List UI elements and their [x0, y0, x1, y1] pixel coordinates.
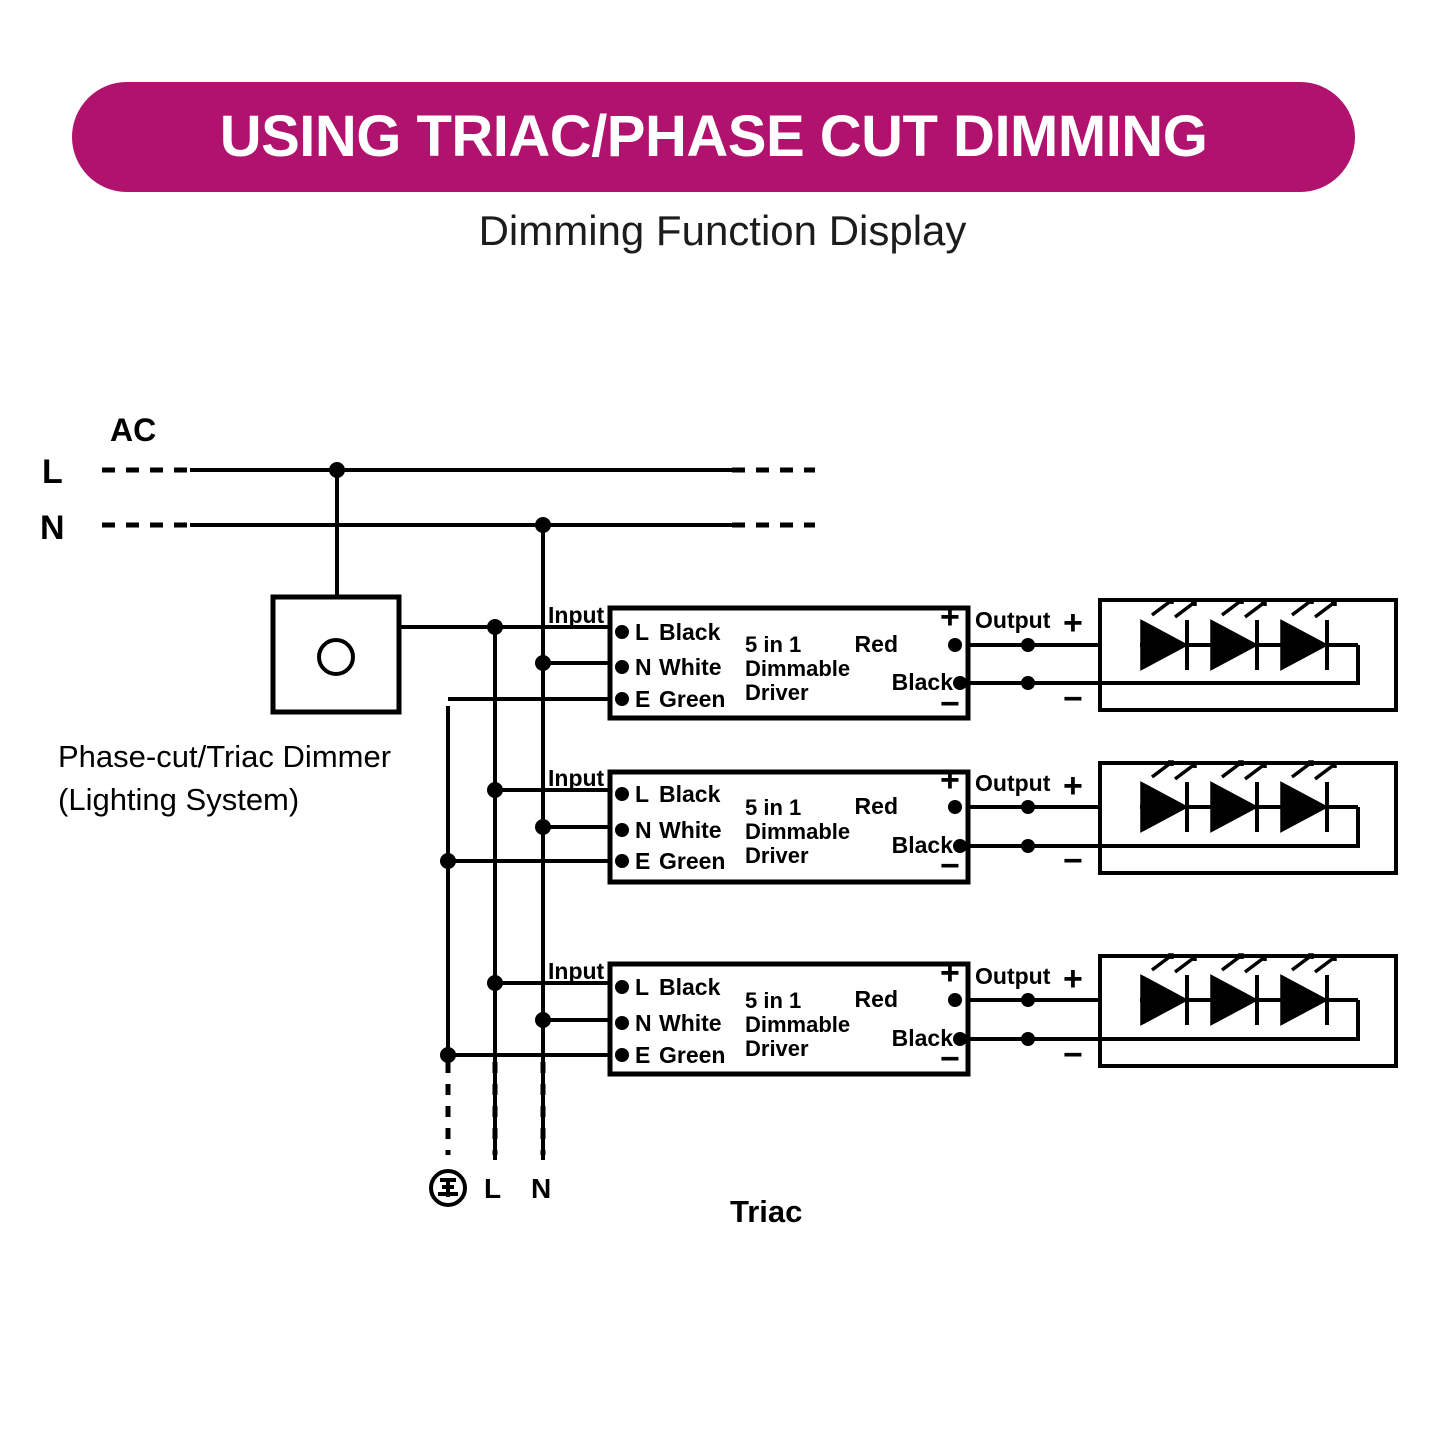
driver-3-minus-sign: − — [940, 1040, 960, 1078]
driver-3-wire-l: Black — [659, 974, 721, 1000]
driver-3-out-red-label: Red — [855, 986, 898, 1012]
driver-3-out-red-dot — [948, 993, 962, 1007]
supply-neutral-label: N — [40, 509, 65, 547]
output-label-2: Output — [975, 770, 1051, 796]
driver-2-title-line3: Driver — [745, 843, 809, 868]
driver-2-minus-sign: − — [940, 847, 960, 885]
driver-1-terminal-l-dot — [615, 625, 629, 639]
junction-dot-driver-1-n — [535, 655, 551, 671]
driver-1-title-line2: Dimmable — [745, 656, 850, 681]
dimmer-caption-line2: (Lighting System) — [58, 782, 299, 817]
driver-1-terminal-e: E — [635, 686, 650, 712]
driver-1-title-line1: 5 in 1 — [745, 632, 801, 657]
junction-dot-out3-plus — [1021, 993, 1035, 1007]
junction-dot-driver-2-e — [440, 853, 456, 869]
driver-3-wire-e: Green — [659, 1042, 725, 1068]
driver-3-terminal-l-dot — [615, 980, 629, 994]
driver-2-terminal-n-dot — [615, 823, 629, 837]
driver-1-wire-n: White — [659, 654, 722, 680]
driver-2-wire-l: Black — [659, 781, 721, 807]
junction-dot-l-rail — [329, 462, 345, 478]
driver-1-out-red-dot — [948, 638, 962, 652]
dimmer-box[interactable] — [273, 597, 399, 712]
driver-2-wire-n: White — [659, 817, 722, 843]
driver-2-terminal-n: N — [635, 817, 652, 843]
junction-dot-driver-2-l — [487, 782, 503, 798]
driver-1-terminal-n: N — [635, 654, 652, 680]
output-2-plus: + — [1063, 767, 1083, 805]
output-1-minus: − — [1063, 680, 1083, 718]
wiring-diagram: AC L N Phase-cut/Triac Dimmer (Lighting … — [0, 0, 1445, 1445]
footer-label: Triac — [730, 1194, 802, 1229]
junction-dot-driver-3-n — [535, 1012, 551, 1028]
ac-label: AC — [110, 412, 156, 448]
dimmer-caption-line1: Phase-cut/Triac Dimmer — [58, 739, 391, 774]
driver-3-plus-sign: + — [940, 954, 960, 992]
junction-dot-n-rail — [535, 517, 551, 533]
junction-dot-driver-3-e — [440, 1047, 456, 1063]
driver-2-terminal-l-dot — [615, 787, 629, 801]
output-label-3: Output — [975, 963, 1051, 989]
driver-3-title-line3: Driver — [745, 1036, 809, 1061]
driver-2-title-line2: Dimmable — [745, 819, 850, 844]
diagram-page: USING TRIAC/PHASE CUT DIMMING Dimming Fu… — [0, 0, 1445, 1445]
driver-3-terminal-e-dot — [615, 1048, 629, 1062]
output-3-plus: + — [1063, 960, 1083, 998]
supply-line-label: L — [42, 453, 63, 491]
driver-1-title-line3: Driver — [745, 680, 809, 705]
input-label-3: Input — [548, 958, 605, 984]
driver-2-out-red-dot — [948, 800, 962, 814]
driver-3-title-line1: 5 in 1 — [745, 988, 801, 1013]
driver-1-wire-l: Black — [659, 619, 721, 645]
junction-dot-out1-plus — [1021, 638, 1035, 652]
driver-3-terminal-l: L — [635, 974, 649, 1000]
driver-3-terminal-e: E — [635, 1042, 650, 1068]
bus-line-label: L — [484, 1173, 501, 1204]
driver-2-terminal-e-dot — [615, 854, 629, 868]
driver-2-plus-sign: + — [940, 761, 960, 799]
driver-2-terminal-e: E — [635, 848, 650, 874]
driver-1-wire-e: Green — [659, 686, 725, 712]
driver-1-terminal-n-dot — [615, 660, 629, 674]
driver-1-terminal-e-dot — [615, 692, 629, 706]
driver-1-out-red-label: Red — [855, 631, 898, 657]
junction-dot-out3-minus — [1021, 1032, 1035, 1046]
earth-ground-icon — [431, 1171, 465, 1205]
driver-1-terminal-l: L — [635, 619, 649, 645]
driver-3-terminal-n-dot — [615, 1016, 629, 1030]
junction-dot-out2-plus — [1021, 800, 1035, 814]
output-3-minus: − — [1063, 1036, 1083, 1074]
driver-2-out-red-label: Red — [855, 793, 898, 819]
bus-neutral-label: N — [531, 1173, 551, 1204]
driver-2-title-line1: 5 in 1 — [745, 795, 801, 820]
driver-1-plus-sign: + — [940, 598, 960, 636]
driver-3-wire-n: White — [659, 1010, 722, 1036]
junction-dot-out1-minus — [1021, 676, 1035, 690]
output-1-plus: + — [1063, 604, 1083, 642]
driver-2-wire-e: Green — [659, 848, 725, 874]
input-label-1: Input — [548, 602, 605, 628]
junction-dot-driver-2-n — [535, 819, 551, 835]
junction-dot-out2-minus — [1021, 839, 1035, 853]
junction-dot-driver-3-l — [487, 975, 503, 991]
input-label-2: Input — [548, 765, 605, 791]
driver-3-terminal-n: N — [635, 1010, 652, 1036]
driver-3-title-line2: Dimmable — [745, 1012, 850, 1037]
driver-1-minus-sign: − — [940, 685, 960, 723]
driver-2-terminal-l: L — [635, 781, 649, 807]
output-label-1: Output — [975, 607, 1051, 633]
